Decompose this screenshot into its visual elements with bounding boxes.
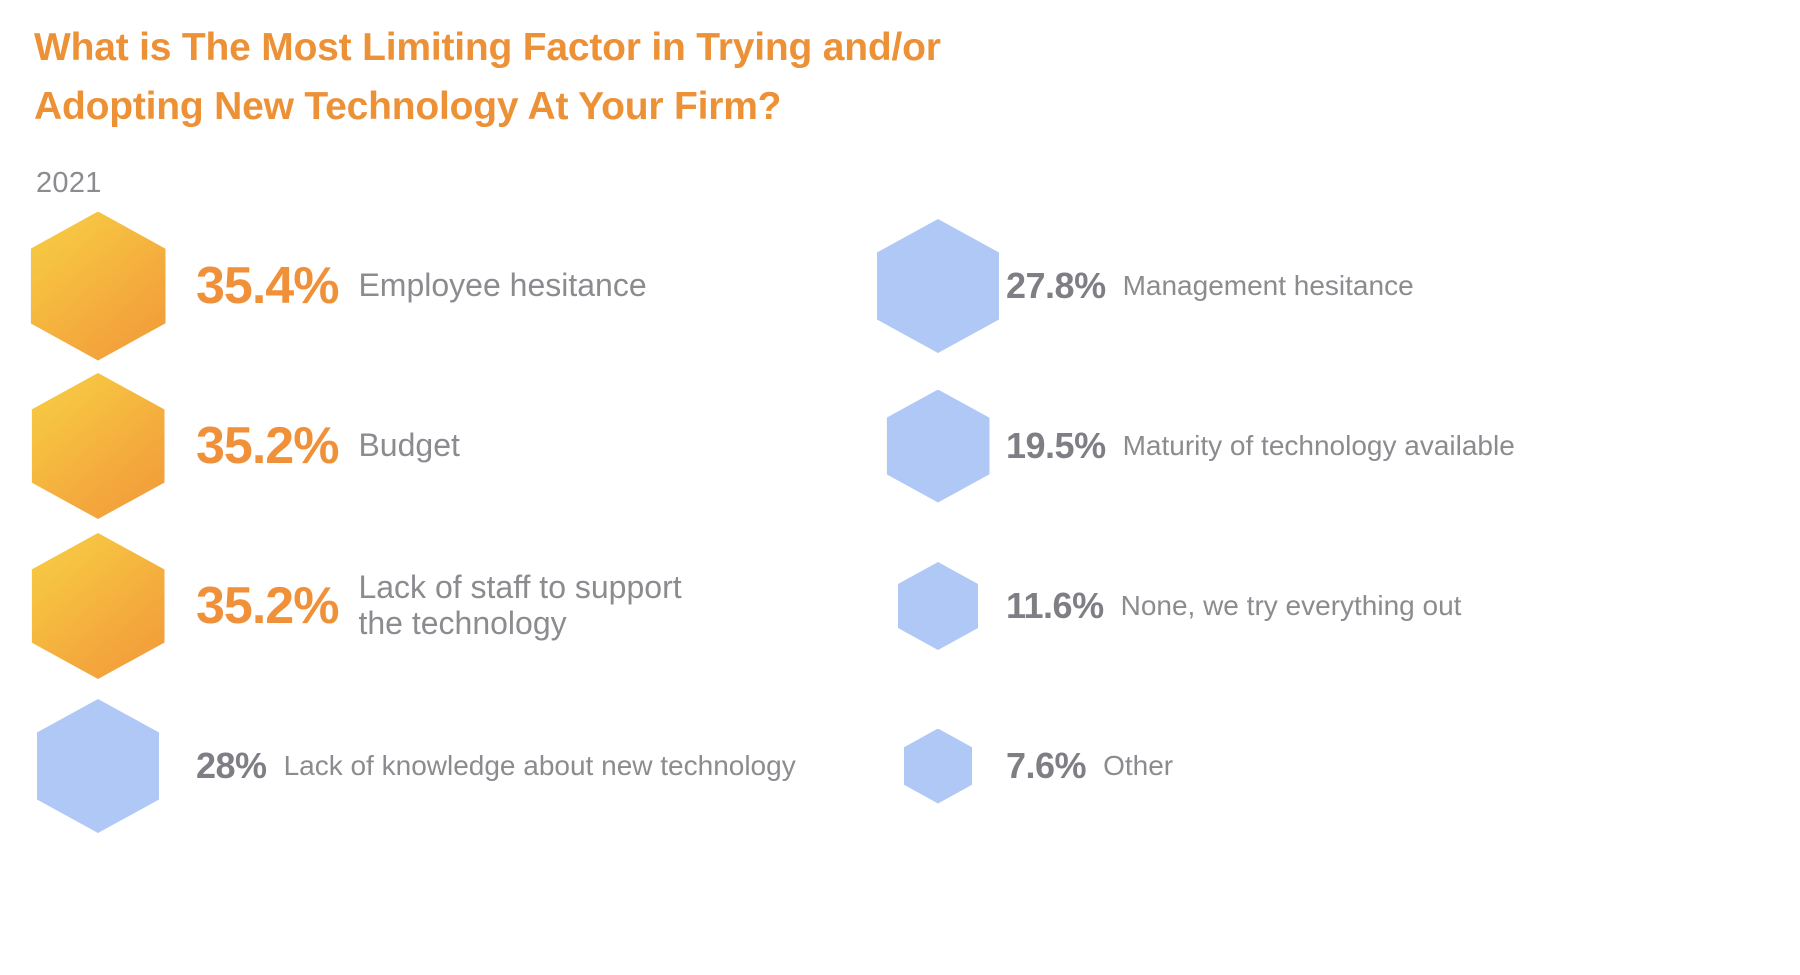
chart-row-text: 7.6%Other — [1006, 686, 1800, 846]
data-value: 27.8% — [1006, 265, 1106, 307]
hexagon-icon — [877, 219, 999, 353]
data-label: None, we try everything out — [1121, 590, 1462, 621]
hexagon-icon — [887, 390, 990, 503]
data-value: 7.6% — [1006, 745, 1086, 787]
chart-row: 11.6%None, we try everything out — [838, 526, 1800, 686]
hexagon-icon — [31, 212, 166, 361]
chart-row: 27.8%Management hesitance — [838, 206, 1800, 366]
chart-row-text: 35.2%Lack of staff to support the techno… — [196, 526, 880, 686]
data-label: Employee hesitance — [358, 268, 646, 304]
hexagon-icon — [32, 373, 165, 519]
hexagon-cell — [18, 526, 178, 686]
data-value: 35.2% — [196, 576, 338, 636]
data-label: Maturity of technology available — [1123, 430, 1515, 461]
data-value: 35.2% — [196, 416, 338, 476]
data-value: 11.6% — [1006, 585, 1104, 627]
data-label: Management hesitance — [1123, 270, 1414, 301]
page-title: What is The Most Limiting Factor in Tryi… — [34, 18, 1334, 137]
chart-row-text: 28%Lack of knowledge about new technolog… — [196, 686, 880, 846]
hexagon-icon — [32, 533, 165, 679]
chart-row-text: 35.4%Employee hesitance — [196, 206, 880, 366]
hexagon-cell — [18, 366, 178, 526]
chart-row: 35.2%Budget — [0, 366, 880, 526]
hexagon-icon — [904, 729, 972, 804]
year-label: 2021 — [36, 167, 102, 200]
chart-column-left: 35.4%Employee hesitance35.2%Budget35.2%L… — [0, 206, 880, 846]
chart-row: 35.4%Employee hesitance — [0, 206, 880, 366]
chart-row-text: 27.8%Management hesitance — [1006, 206, 1800, 366]
data-value: 19.5% — [1006, 425, 1106, 467]
chart-row: 35.2%Lack of staff to support the techno… — [0, 526, 880, 686]
data-label: Other — [1103, 750, 1173, 781]
data-value: 28% — [196, 745, 267, 787]
hexagon-icon — [37, 699, 159, 833]
page-title-line-2: Adopting New Technology At Your Firm? — [34, 77, 1334, 136]
data-value: 35.4% — [196, 256, 338, 316]
data-label: Budget — [358, 428, 459, 464]
chart-row: 19.5%Maturity of technology available — [838, 366, 1800, 526]
chart-row: 7.6%Other — [838, 686, 1800, 846]
chart-column-right: 27.8%Management hesitance19.5%Maturity o… — [838, 206, 1800, 846]
chart-row-text: 35.2%Budget — [196, 366, 880, 526]
data-label: Lack of knowledge about new technology — [284, 750, 796, 781]
chart-row-text: 19.5%Maturity of technology available — [1006, 366, 1800, 526]
hexagon-cell — [18, 686, 178, 846]
chart-row: 28%Lack of knowledge about new technolog… — [0, 686, 880, 846]
chart-row-text: 11.6%None, we try everything out — [1006, 526, 1800, 686]
page-title-line-1: What is The Most Limiting Factor in Tryi… — [34, 18, 1334, 77]
hexagon-icon — [898, 562, 978, 650]
hexagon-cell — [18, 206, 178, 366]
data-label: Lack of staff to support the technology — [358, 570, 681, 642]
